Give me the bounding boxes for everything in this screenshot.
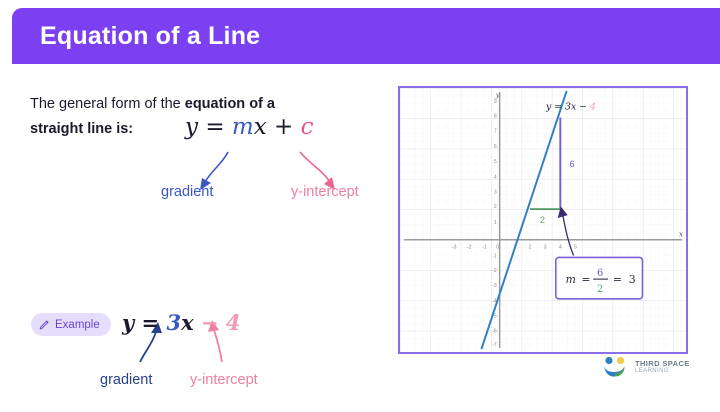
yintercept-arrow-curve [300,152,330,182]
svg-text:3: 3 [544,245,547,251]
formula-x: x [254,114,267,140]
page-title: Equation of a Line [40,22,260,51]
svg-text:-6: -6 [492,328,497,334]
svg-text:1: 1 [494,220,497,226]
y-axis-label: y [495,91,500,99]
gradient-box-result: 3 [629,273,636,286]
graph-equation-label: y = 3x − 4 [545,102,596,113]
example-formula-minus: − [201,310,219,335]
intro-text-plain: The general form of the [30,96,185,112]
formula-m: m [232,114,254,140]
svg-text:2: 2 [529,245,532,251]
svg-text:y = 3x − 4: y = 3x − 4 [545,102,596,113]
svg-text:7: 7 [494,128,497,134]
label-example-gradient: gradient [100,372,152,388]
third-space-learning-mark-icon [602,356,628,378]
svg-text:5: 5 [494,159,497,165]
general-formula: y = mx + c [185,114,314,140]
label-gradient: gradient [161,184,213,200]
svg-text:-2: -2 [467,245,472,251]
svg-text:-2: -2 [492,268,497,274]
label-example-y-intercept: y-intercept [190,372,258,388]
formula-c: c [301,114,314,140]
example-formula-constant: 4 [226,310,241,335]
rise-label: 6 [570,159,575,169]
brand-logo: THIRD SPACE LEARNING [602,356,690,378]
gradient-box-numerator: 6 [597,268,603,279]
header-bar: Equation of a Line [12,8,720,64]
example-formula-equals: = [142,310,160,335]
svg-text:9: 9 [494,99,497,105]
svg-text:-3: -3 [492,283,497,289]
svg-text:-7: -7 [492,342,497,348]
svg-text:-1: -1 [492,253,497,259]
svg-text:5: 5 [574,245,577,251]
intro-text-bold-2: straight line is: [30,121,133,137]
svg-text:8: 8 [494,114,497,120]
gradient-box-equals-1: = [581,273,590,286]
run-label: 2 [540,215,545,225]
example-formula-x: x [181,310,194,335]
svg-text:2: 2 [494,204,497,210]
svg-text:6: 6 [494,144,497,150]
example-formula: y = 3x − 4 [122,310,240,335]
graph-svg: y x -3 -2 -1 0 1 2 3 4 5 9 8 7 6 5 4 [400,88,686,352]
example-formula-coefficient: 3 [166,310,181,335]
pencil-icon [39,319,50,330]
gradient-box-m: m [566,273,576,286]
gradient-result-box: m = 6 2 = 3 [556,257,643,298]
example-badge: Example [31,313,111,336]
example-gradient-arrow-curve [140,332,156,362]
slide-page: Equation of a Line The general form of t… [0,0,720,412]
svg-text:3: 3 [494,189,497,195]
gradient-box-denominator: 2 [597,284,603,295]
formula-y: y [185,114,198,140]
svg-text:0: 0 [496,245,499,251]
svg-text:-3: -3 [452,245,457,251]
svg-text:4: 4 [559,245,562,251]
brand-logo-text: THIRD SPACE LEARNING [635,360,690,374]
gradient-box-equals-2: = [613,273,622,286]
graph-panel: y x -3 -2 -1 0 1 2 3 4 5 9 8 7 6 5 4 [398,86,688,354]
formula-plus: + [274,114,293,140]
example-badge-label: Example [55,319,100,331]
intro-text-bold-1: equation of a [185,96,275,112]
label-y-intercept: y-intercept [291,184,359,200]
example-formula-y: y [122,310,134,335]
brand-name-line-1: THIRD SPACE [635,360,690,368]
gradient-arrow-curve [205,152,228,182]
svg-text:-1: -1 [482,245,487,251]
explanation-panel: The general form of the equation of a st… [0,72,392,412]
brand-name-line-2: LEARNING [635,368,690,374]
svg-text:4: 4 [494,175,497,181]
formula-equals: = [205,114,224,140]
